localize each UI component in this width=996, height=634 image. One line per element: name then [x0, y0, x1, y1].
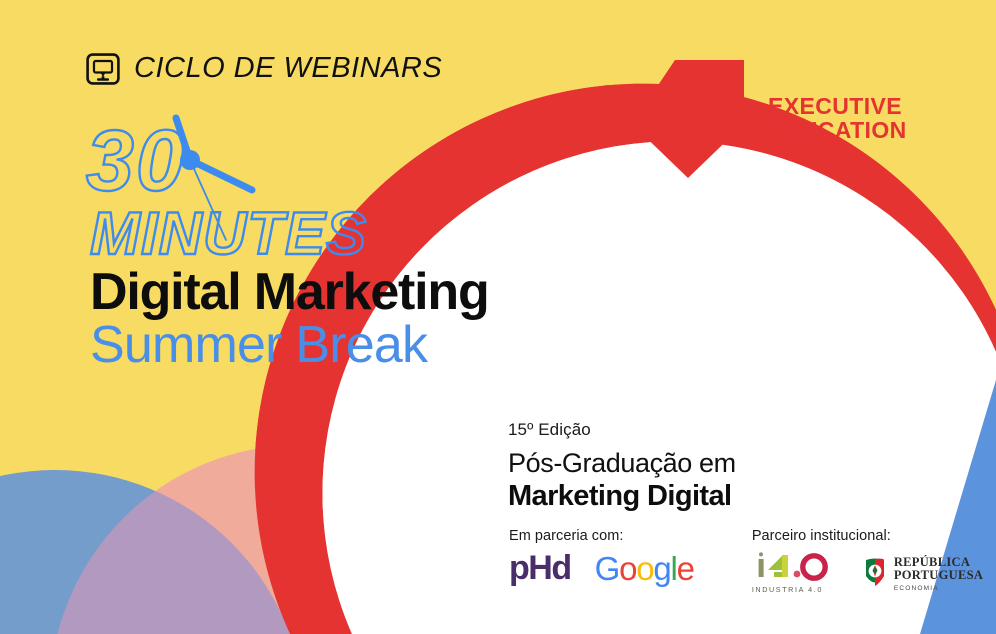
rp-subtext: ECONOMIA	[894, 586, 983, 593]
portugal-shield-icon	[862, 558, 888, 592]
partner-logos-commercial: pHd Google	[509, 551, 694, 585]
google-letter-e: e	[677, 550, 694, 587]
partner-logos-institutional: INDUSTRIA 4.0 REPÚBLICA PORTUGUESA ECONO…	[752, 551, 983, 593]
partners-section: Em parceria com: pHd Google Parceiro ins…	[509, 528, 983, 593]
webinar-monitor-icon	[86, 53, 120, 85]
duration-number: 30	[86, 113, 186, 209]
i40-subtext: INDUSTRIA 4.0	[752, 586, 838, 593]
google-letter-o2: o	[636, 550, 653, 587]
webinar-kicker: CICLO DE WEBINARS	[86, 52, 442, 85]
google-letter-o1: o	[619, 550, 636, 587]
republica-portuguesa-wordmark: REPÚBLICA PORTUGUESA ECONOMIA	[894, 556, 983, 593]
duration-unit: MINUTES	[90, 200, 367, 267]
i40-mark-icon	[752, 551, 838, 581]
rp-line-2: PORTUGUESA	[894, 569, 983, 582]
edition-label: 15º Edição	[508, 420, 938, 440]
kicker-label: CICLO DE WEBINARS	[134, 52, 442, 85]
course-title-line-1: Pós-Graduação em	[508, 448, 938, 479]
phd-logo[interactable]: pHd	[509, 551, 571, 585]
iseg-tagline-line-2: EDUCATION	[768, 119, 907, 143]
partner-label-commercial: Em parceria com:	[509, 528, 694, 544]
google-logo[interactable]: Google	[595, 552, 694, 585]
partner-label-institutional: Parceiro institucional:	[752, 528, 983, 544]
iseg-mark-icon: ISEG	[626, 58, 750, 180]
google-letter-g1: G	[595, 550, 619, 587]
poster-canvas: CICLO DE WEBINARS 30 MINUTES Digital Mar…	[0, 0, 996, 634]
partner-group-institutional: Parceiro institucional: INDUSTRIA 4.0	[752, 528, 983, 593]
partner-group-commercial: Em parceria com: pHd Google	[509, 528, 694, 593]
iseg-tagline: EXECUTIVE EDUCATION	[768, 95, 907, 142]
course-title-line-2: Marketing Digital	[508, 480, 938, 513]
iseg-logo: ISEG EXECUTIVE EDUCATION	[626, 58, 907, 180]
republica-portuguesa-logo[interactable]: REPÚBLICA PORTUGUESA ECONOMIA	[862, 556, 983, 593]
title-line-2: Summer Break	[90, 318, 427, 373]
duration-badge-graphic: 30 MINUTES	[78, 108, 498, 268]
course-info-block: 15º Edição Pós-Graduação em Marketing Di…	[508, 420, 938, 513]
duration-badge: 30 MINUTES	[78, 108, 498, 268]
iseg-tagline-line-1: EXECUTIVE	[768, 95, 907, 119]
google-letter-g2: g	[653, 550, 670, 587]
title-line-1: Digital Marketing	[90, 265, 489, 320]
i40-logo[interactable]: INDUSTRIA 4.0	[752, 551, 838, 593]
